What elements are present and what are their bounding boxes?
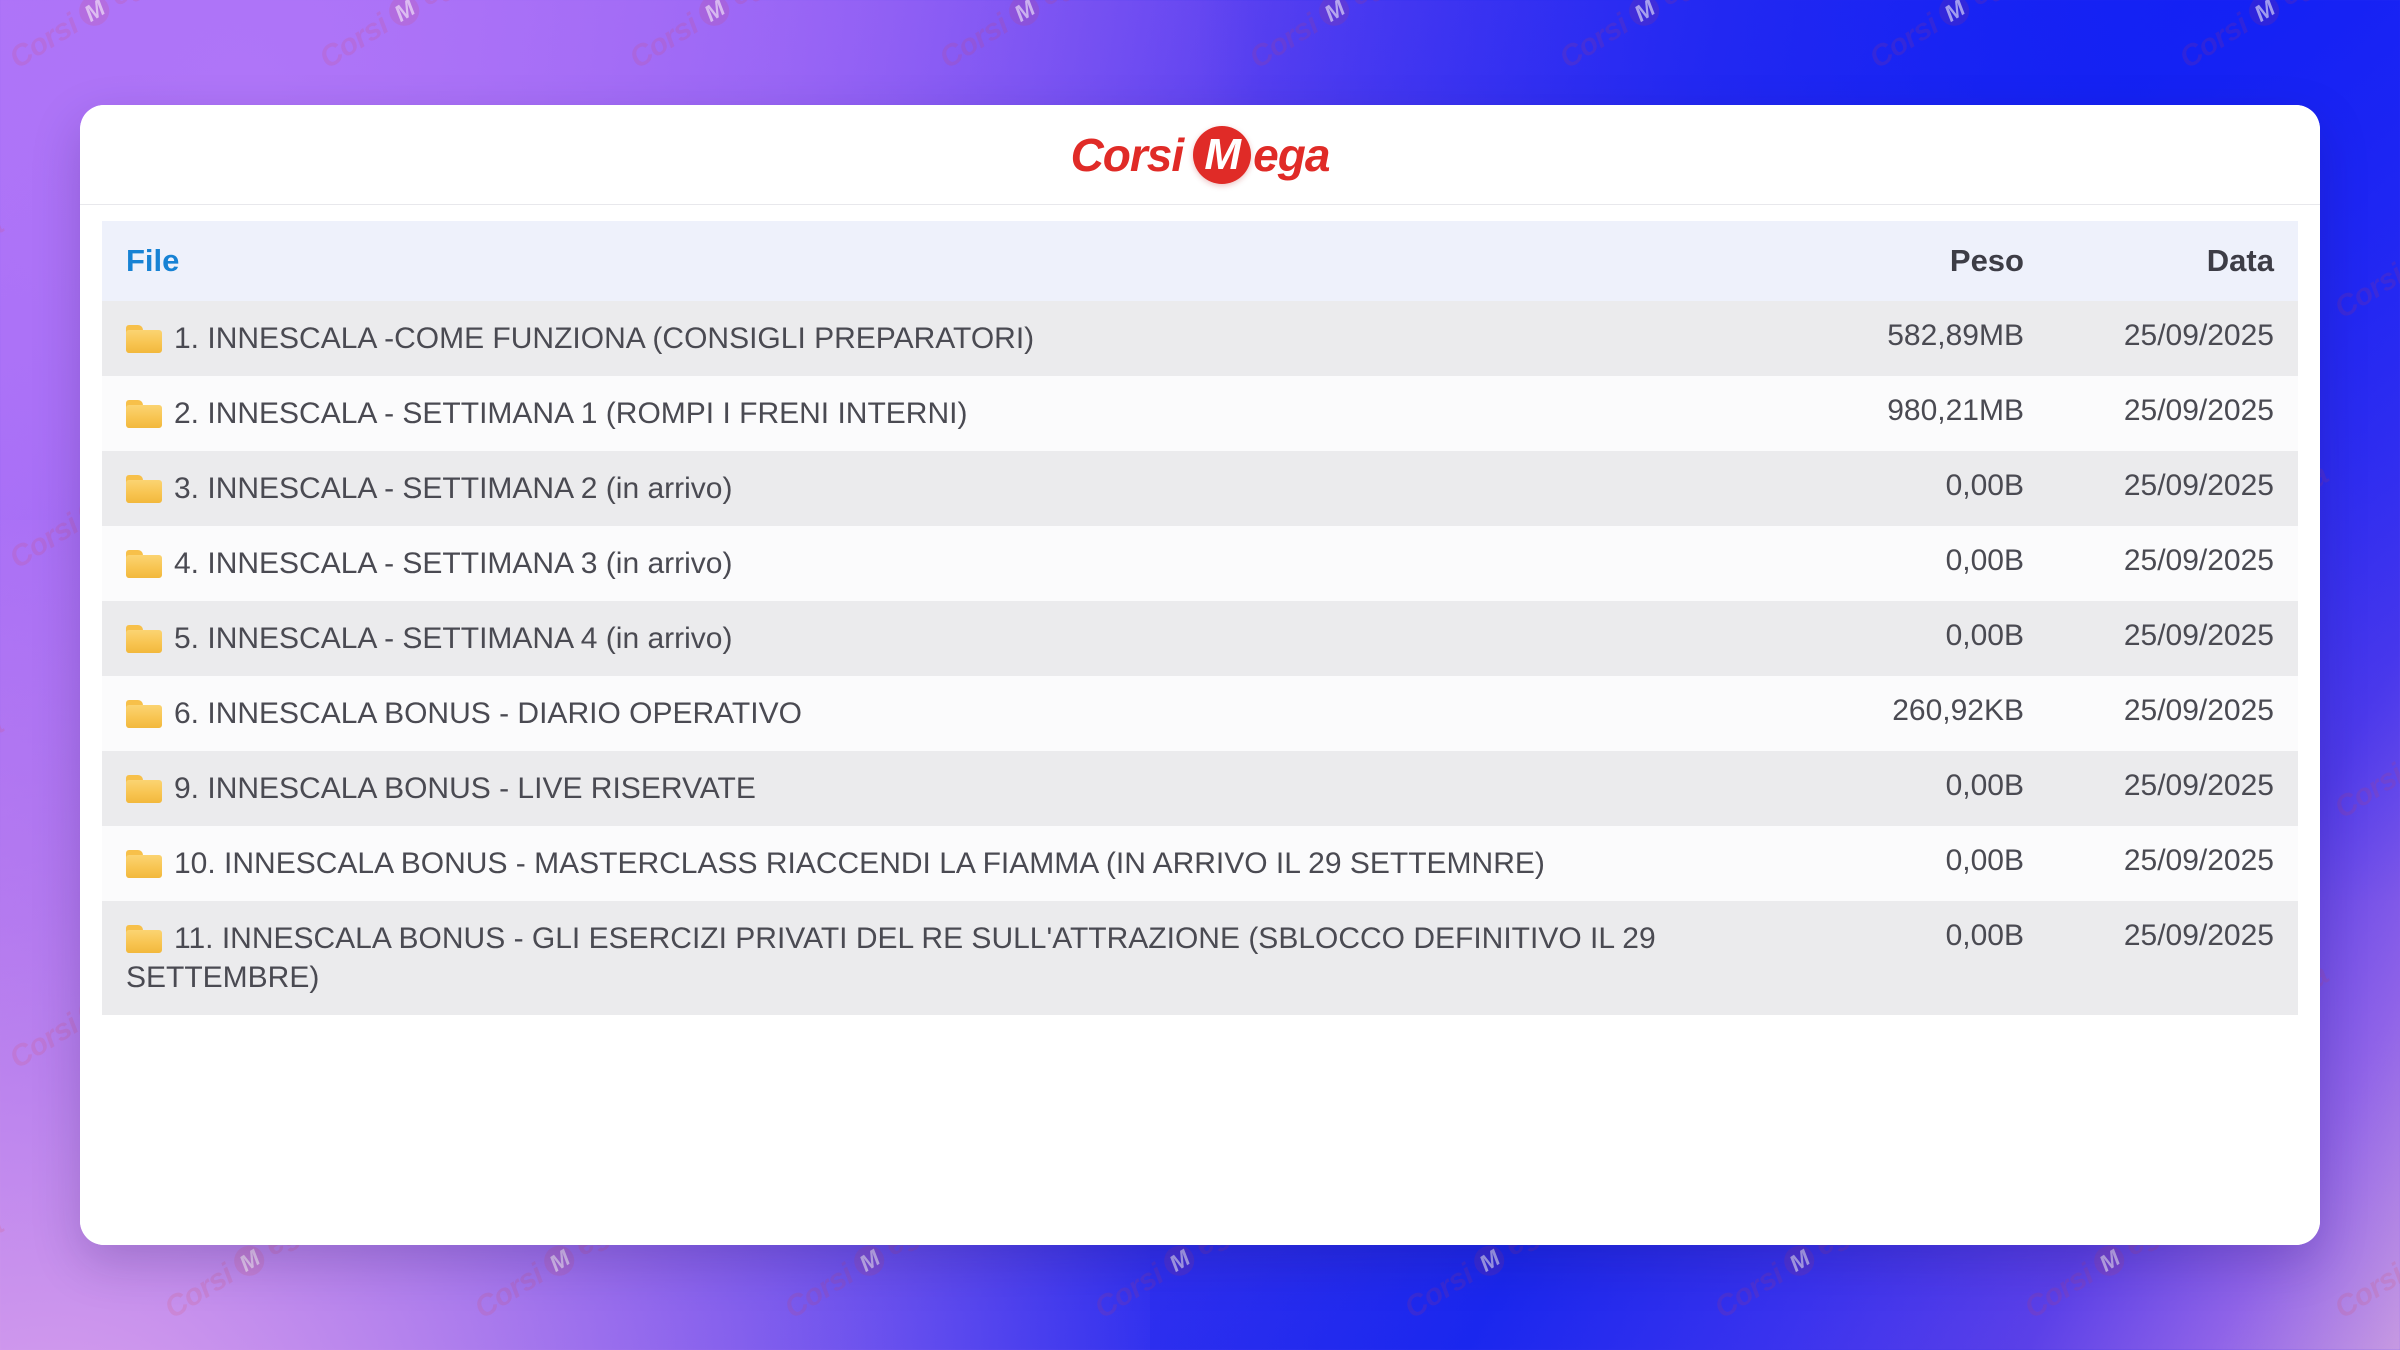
file-size-cell: 980,21MB <box>1828 376 2048 451</box>
column-header-file[interactable]: File <box>102 221 1828 301</box>
file-table-head: File Peso Data <box>102 221 2298 301</box>
watermark-text: CorsiMega <box>314 0 475 76</box>
watermark-badge-icon: M <box>1779 1240 1820 1281</box>
folder-icon <box>126 775 162 803</box>
file-size-cell: 582,89MB <box>1828 301 2048 376</box>
watermark-text-left: Corsi <box>934 8 1015 76</box>
file-name-cell[interactable]: 6. INNESCALA BONUS - DIARIO OPERATIVO <box>102 676 1828 751</box>
file-name-label[interactable]: 3. INNESCALA - SETTIMANA 2 (in arrivo) <box>174 472 732 505</box>
watermark-text: CorsiMega <box>1554 0 1715 76</box>
watermark-text-left: Corsi <box>1399 1258 1480 1326</box>
watermark-badge-icon: M <box>2089 1240 2130 1281</box>
table-row[interactable]: 6. INNESCALA BONUS - DIARIO OPERATIVO260… <box>102 676 2298 751</box>
file-name-label[interactable]: 10. INNESCALA BONUS - MASTERCLASS RIACCE… <box>174 847 1545 880</box>
file-date-cell: 25/09/2025 <box>2048 751 2298 826</box>
file-name-label[interactable]: 11. INNESCALA BONUS - GLI ESERCIZI PRIVA… <box>126 922 1656 994</box>
watermark-text: CorsiMega <box>1864 0 2025 76</box>
watermark-text: CorsiMega <box>4 0 165 76</box>
table-row[interactable]: 2. INNESCALA - SETTIMANA 1 (ROMPI I FREN… <box>102 376 2298 451</box>
folder-icon <box>126 625 162 653</box>
watermark-text-left: Corsi <box>159 1258 240 1326</box>
folder-icon <box>126 475 162 503</box>
brand-logo: Corsi M ega <box>1071 126 1330 184</box>
folder-icon <box>126 700 162 728</box>
watermark-text-right: ega <box>1344 0 1405 13</box>
watermark-badge-icon: M <box>74 0 115 31</box>
watermark-text-right: ega <box>0 208 10 263</box>
file-date-cell: 25/09/2025 <box>2048 676 2298 751</box>
file-date-cell: 25/09/2025 <box>2048 601 2298 676</box>
column-header-data[interactable]: Data <box>2048 221 2298 301</box>
watermark-text: CorsiMega <box>624 0 785 76</box>
watermark-text-left: Corsi <box>4 508 85 576</box>
file-name-cell[interactable]: 3. INNESCALA - SETTIMANA 2 (in arrivo) <box>102 451 1828 526</box>
table-row[interactable]: 3. INNESCALA - SETTIMANA 2 (in arrivo)0,… <box>102 451 2298 526</box>
folder-icon <box>126 400 162 428</box>
folder-icon <box>126 550 162 578</box>
file-name-cell[interactable]: 5. INNESCALA - SETTIMANA 4 (in arrivo) <box>102 601 1828 676</box>
watermark-text: CorsiMega <box>934 0 1095 76</box>
watermark-text: CorsiMega <box>0 708 10 826</box>
watermark-badge-icon: M <box>1934 0 1975 31</box>
folder-icon <box>126 325 162 353</box>
watermark-badge-icon: M <box>1314 0 1355 31</box>
file-browser-card: Corsi M ega File Peso Data 1. INNESCALA … <box>80 105 2320 1245</box>
watermark-text-left: Corsi <box>1709 1258 1790 1326</box>
file-name-label[interactable]: 9. INNESCALA BONUS - LIVE RISERVATE <box>174 772 756 805</box>
watermark-text-left: Corsi <box>624 8 705 76</box>
file-size-cell: 0,00B <box>1828 751 2048 826</box>
table-row[interactable]: 10. INNESCALA BONUS - MASTERCLASS RIACCE… <box>102 826 2298 901</box>
watermark-text-left: Corsi <box>314 8 395 76</box>
table-row[interactable]: 5. INNESCALA - SETTIMANA 4 (in arrivo)0,… <box>102 601 2298 676</box>
file-size-cell: 260,92KB <box>1828 676 2048 751</box>
file-name-cell[interactable]: 11. INNESCALA BONUS - GLI ESERCIZI PRIVA… <box>102 901 1828 1015</box>
watermark-text-left: Corsi <box>779 1258 860 1326</box>
file-size-cell: 0,00B <box>1828 826 2048 901</box>
watermark-text-right: ega <box>0 1208 10 1263</box>
file-size-cell: 0,00B <box>1828 451 2048 526</box>
card-header: Corsi M ega <box>80 105 2320 205</box>
watermark-text: CorsiMega <box>1244 0 1405 76</box>
file-size-cell: 0,00B <box>1828 526 2048 601</box>
watermark-badge-icon: M <box>1469 1240 1510 1281</box>
watermark-text-left: Corsi <box>2174 8 2255 76</box>
watermark-badge-icon: M <box>849 1240 890 1281</box>
watermark-text-left: Corsi <box>1089 1258 1170 1326</box>
table-row[interactable]: 4. INNESCALA - SETTIMANA 3 (in arrivo)0,… <box>102 526 2298 601</box>
file-table-body: 1. INNESCALA -COME FUNZIONA (CONSIGLI PR… <box>102 301 2298 1015</box>
file-date-cell: 25/09/2025 <box>2048 526 2298 601</box>
file-name-cell[interactable]: 10. INNESCALA BONUS - MASTERCLASS RIACCE… <box>102 826 1828 901</box>
file-name-label[interactable]: 6. INNESCALA BONUS - DIARIO OPERATIVO <box>174 697 802 730</box>
file-table-container: File Peso Data 1. INNESCALA -COME FUNZIO… <box>80 205 2320 1245</box>
watermark-text-left: Corsi <box>2329 258 2400 326</box>
file-size-cell: 0,00B <box>1828 901 2048 1015</box>
watermark-badge-icon: M <box>229 1240 270 1281</box>
brand-text-right: ega <box>1253 128 1329 182</box>
watermark-badge-icon: M <box>384 0 425 31</box>
watermark-text: CorsiMega <box>2174 0 2335 76</box>
file-date-cell: 25/09/2025 <box>2048 901 2298 1015</box>
watermark-text: CorsiMega <box>2329 1208 2400 1326</box>
watermark-badge-icon: M <box>2244 0 2285 31</box>
watermark-text-right: ega <box>2274 0 2335 13</box>
file-date-cell: 25/09/2025 <box>2048 376 2298 451</box>
watermark-text-right: ega <box>0 708 10 763</box>
file-name-cell[interactable]: 2. INNESCALA - SETTIMANA 1 (ROMPI I FREN… <box>102 376 1828 451</box>
file-name-label[interactable]: 2. INNESCALA - SETTIMANA 1 (ROMPI I FREN… <box>174 397 967 430</box>
watermark-badge-icon: M <box>1624 0 1665 31</box>
table-row[interactable]: 1. INNESCALA -COME FUNZIONA (CONSIGLI PR… <box>102 301 2298 376</box>
file-date-cell: 25/09/2025 <box>2048 451 2298 526</box>
watermark-badge-icon: M <box>1159 1240 1200 1281</box>
file-name-label[interactable]: 4. INNESCALA - SETTIMANA 3 (in arrivo) <box>174 547 732 580</box>
folder-icon <box>126 850 162 878</box>
watermark-badge-icon: M <box>694 0 735 31</box>
watermark-text-right: ega <box>414 0 475 13</box>
file-name-label[interactable]: 1. INNESCALA -COME FUNZIONA (CONSIGLI PR… <box>174 322 1034 355</box>
watermark-text-right: ega <box>1654 0 1715 13</box>
watermark-text-left: Corsi <box>1244 8 1325 76</box>
watermark-text-right: ega <box>1964 0 2025 13</box>
watermark-text-left: Corsi <box>1864 8 1945 76</box>
watermark-text: CorsiMega <box>0 1208 10 1326</box>
table-header-row: File Peso Data <box>102 221 2298 301</box>
watermark-badge-icon: M <box>1004 0 1045 31</box>
watermark-text-left: Corsi <box>2329 758 2400 826</box>
file-date-cell: 25/09/2025 <box>2048 301 2298 376</box>
watermark-badge-icon: M <box>539 1240 580 1281</box>
column-header-peso[interactable]: Peso <box>1828 221 2048 301</box>
watermark-text-right: ega <box>1034 0 1095 13</box>
watermark-text-left: Corsi <box>2329 1258 2400 1326</box>
watermark-text-left: Corsi <box>4 8 85 76</box>
watermark-text-left: Corsi <box>2019 1258 2100 1326</box>
brand-badge-icon: M <box>1193 126 1251 184</box>
table-row[interactable]: 9. INNESCALA BONUS - LIVE RISERVATE0,00B… <box>102 751 2298 826</box>
watermark-text-left: Corsi <box>4 1008 85 1076</box>
folder-icon <box>126 925 162 953</box>
file-name-cell[interactable]: 9. INNESCALA BONUS - LIVE RISERVATE <box>102 751 1828 826</box>
watermark-text-left: Corsi <box>469 1258 550 1326</box>
watermark-text: CorsiMega <box>0 208 10 326</box>
brand-text-left: Corsi <box>1071 128 1184 182</box>
file-date-cell: 25/09/2025 <box>2048 826 2298 901</box>
file-name-cell[interactable]: 4. INNESCALA - SETTIMANA 3 (in arrivo) <box>102 526 1828 601</box>
table-row[interactable]: 11. INNESCALA BONUS - GLI ESERCIZI PRIVA… <box>102 901 2298 1015</box>
file-name-label[interactable]: 5. INNESCALA - SETTIMANA 4 (in arrivo) <box>174 622 732 655</box>
file-size-cell: 0,00B <box>1828 601 2048 676</box>
watermark-text-right: ega <box>724 0 785 13</box>
watermark-text: CorsiMega <box>2329 208 2400 326</box>
watermark-text: CorsiMega <box>2329 708 2400 826</box>
watermark-text-right: ega <box>104 0 165 13</box>
watermark-text-left: Corsi <box>1554 8 1635 76</box>
file-name-cell[interactable]: 1. INNESCALA -COME FUNZIONA (CONSIGLI PR… <box>102 301 1828 376</box>
file-table: File Peso Data 1. INNESCALA -COME FUNZIO… <box>102 221 2298 1015</box>
